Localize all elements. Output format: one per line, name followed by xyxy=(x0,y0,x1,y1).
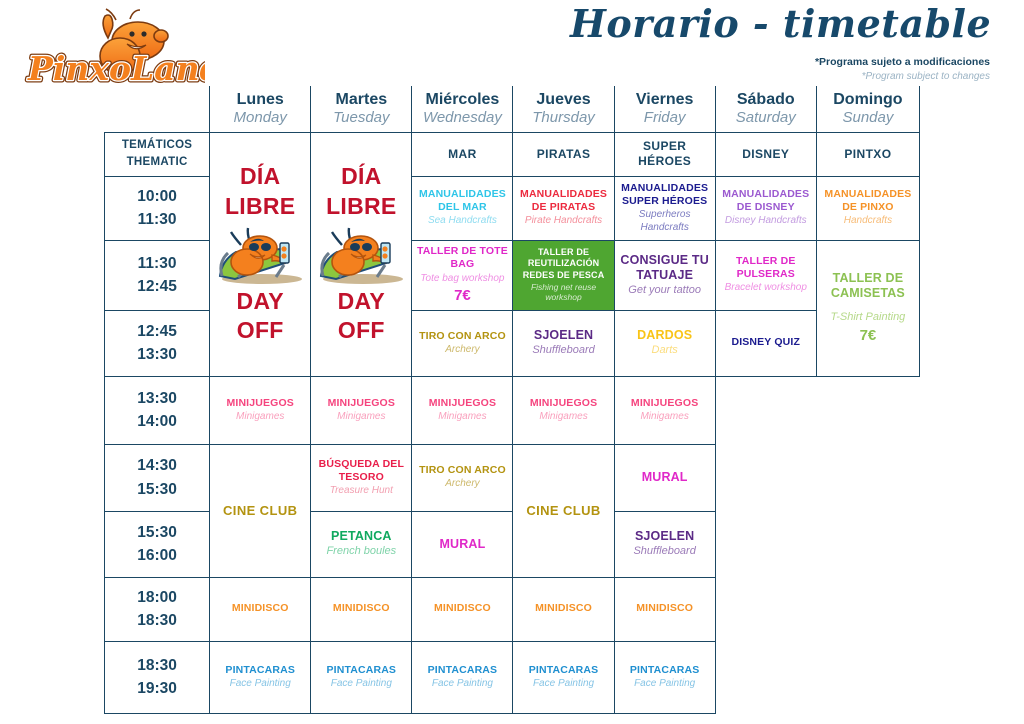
activity-en: Sea Handcrafts xyxy=(415,215,509,228)
timetable: Lunes Monday Martes Tuesday Miércoles We… xyxy=(104,86,920,714)
time-from: 13:30 xyxy=(106,387,208,410)
activity: PINTACARAS Face Painting xyxy=(514,663,612,692)
thematic-label-es: TEMÁTICOS xyxy=(106,137,208,154)
activity-es: MINIDISCO xyxy=(516,602,610,615)
thematic-thursday: PIRATAS xyxy=(513,132,614,176)
page-title: Horario - timetable xyxy=(570,4,990,44)
time-from: 11:30 xyxy=(106,252,208,275)
activity-cell[interactable]: MINIJUEGOS Minigames xyxy=(412,376,513,444)
activity-cell[interactable]: MINIJUEGOS Minigames xyxy=(513,376,614,444)
column-header-thursday: Jueves Thursday xyxy=(513,86,614,132)
time-to: 18:30 xyxy=(106,609,208,632)
activity: MANUALIDADES DEL MAR Sea Handcrafts xyxy=(413,187,511,229)
activity-es: TALLER DE PULSERAS xyxy=(719,255,813,281)
header-corner xyxy=(105,86,210,132)
activity-en: Get your tattoo xyxy=(618,284,712,298)
activity: MINIDISCO xyxy=(211,601,309,616)
activity-en: Minigames xyxy=(516,411,610,424)
activity: TALLER DE TOTE BAG Tote bag workshop 7€ xyxy=(413,244,511,305)
theme-label: DISNEY xyxy=(717,147,815,162)
pinxoland-mascot-logo-icon: PinxoLand PinxoLand PinxoLand xyxy=(20,8,205,93)
activity: TALLER DE CAMISETAS T-Shirt Painting 7€ xyxy=(818,270,918,345)
activity-en: Archery xyxy=(415,344,509,357)
free-day-line1: DÍA xyxy=(312,162,410,191)
activity-cell[interactable]: TIRO CON ARCO Archery xyxy=(412,444,513,511)
time-from: 14:30 xyxy=(106,454,208,477)
free-day-line4: OFF xyxy=(312,316,410,345)
thematic-sunday: PINTXO xyxy=(816,132,919,176)
activity: MINIJUEGOS Minigames xyxy=(413,396,511,425)
activity: PINTACARAS Face Painting xyxy=(413,663,511,692)
time-from: 10:00 xyxy=(106,185,208,208)
activity-cell-cineclub-wednesday[interactable]: CINE CLUB xyxy=(210,444,311,577)
time-from: 15:30 xyxy=(106,521,208,544)
activity-cell[interactable]: MINIDISCO xyxy=(513,577,614,641)
activity-cell[interactable]: MINIJUEGOS Minigames xyxy=(311,376,412,444)
activity-es: MANUALIDADES DE PIRATAS xyxy=(516,188,610,214)
activity: DISNEY QUIZ xyxy=(717,335,815,350)
activity-cell[interactable]: DARDOS Darts xyxy=(614,310,715,376)
time-to: 16:00 xyxy=(106,544,208,567)
activity-es: MURAL xyxy=(618,470,712,485)
activity-en: Darts xyxy=(618,344,712,358)
activity-en: Disney Handcrafts xyxy=(719,215,813,228)
activity: MINIJUEGOS Minigames xyxy=(211,396,309,425)
time-slot-4: 14:30 15:30 xyxy=(105,444,210,511)
activity-en: Minigames xyxy=(314,411,408,424)
activity: DARDOS Darts xyxy=(616,327,714,359)
activity-es: PINTACARAS xyxy=(516,664,610,677)
table-row: 13:30 14:00 MINIJUEGOS Minigames MINIJUE… xyxy=(105,376,920,444)
activity-es: CONSIGUE TU TATUAJE xyxy=(618,253,712,283)
activity-en: Fishing net reuse workshop xyxy=(516,282,610,303)
day-label-en: Thursday xyxy=(514,109,612,126)
time-to: 13:30 xyxy=(106,343,208,366)
activity: TIRO CON ARCO Archery xyxy=(413,463,511,492)
time-slot-5: 15:30 16:00 xyxy=(105,511,210,577)
activity-cell[interactable]: MINIDISCO xyxy=(614,577,715,641)
activity: MINIDISCO xyxy=(514,601,612,616)
free-day-cell-monday: DÍA LIBRE DAY O xyxy=(210,132,311,376)
day-label-es: Sábado xyxy=(717,91,815,109)
activity: MINIJUEGOS Minigames xyxy=(312,396,410,425)
day-label-es: Jueves xyxy=(514,91,612,109)
svg-text:PinxoLand: PinxoLand xyxy=(27,49,205,88)
activity: PINTACARAS Face Painting xyxy=(211,663,309,692)
activity-en: Face Painting xyxy=(516,678,610,691)
activity-es: CINE CLUB xyxy=(211,503,309,518)
activity-es: MINIJUEGOS xyxy=(618,397,712,410)
activity-cell[interactable]: PINTACARAS Face Painting xyxy=(311,641,412,713)
activity-cell-highlighted[interactable]: TALLER DE REUTILIZACIÓN REDES DE PESCA F… xyxy=(513,240,614,310)
free-day-line4: OFF xyxy=(211,316,309,345)
time-from: 18:30 xyxy=(106,654,208,677)
activity: MINIDISCO xyxy=(616,601,714,616)
column-header-saturday: Sábado Saturday xyxy=(715,86,816,132)
column-header-tuesday: Martes Tuesday xyxy=(311,86,412,132)
activity: PETANCA French boules xyxy=(312,528,410,560)
table-row: 14:30 15:30 CINE CLUB BÚSQUEDA DEL TESOR… xyxy=(105,444,920,511)
time-to: 15:30 xyxy=(106,478,208,501)
activity: MINIJUEGOS Minigames xyxy=(514,396,612,425)
activity-cell[interactable]: CONSIGUE TU TATUAJE Get your tattoo xyxy=(614,240,715,310)
theme-label: SUPER HÉROES xyxy=(616,139,714,169)
activity-es: PINTACARAS xyxy=(415,664,509,677)
thematic-friday: SUPER HÉROES xyxy=(614,132,715,176)
day-label-es: Miércoles xyxy=(413,91,511,109)
activity: MINIDISCO xyxy=(312,601,410,616)
theme-label: MAR xyxy=(413,147,511,162)
free-day-line2: LIBRE xyxy=(211,192,309,221)
thematic-wednesday: MAR xyxy=(412,132,513,176)
activity-en: Minigames xyxy=(415,411,509,424)
free-day-cell-tuesday: DÍA LIBRE DAY O xyxy=(311,132,412,376)
time-slot-1: 11:30 12:45 xyxy=(105,240,210,310)
activity: PINTACARAS Face Painting xyxy=(616,663,714,692)
activity-cell[interactable]: MANUALIDADES SUPER HÉROES Superheros Han… xyxy=(614,176,715,240)
day-label-en: Tuesday xyxy=(312,109,410,126)
activity-es: MINIDISCO xyxy=(415,602,509,615)
activity-es: PINTACARAS xyxy=(618,664,712,677)
activity-es: TALLER DE CAMISETAS xyxy=(820,271,916,301)
day-label-en: Sunday xyxy=(818,109,918,126)
day-label-es: Domingo xyxy=(818,91,918,109)
activity-price: 7€ xyxy=(415,287,509,305)
activity-es: DARDOS xyxy=(618,328,712,343)
day-label-en: Friday xyxy=(616,109,714,126)
time-to: 19:30 xyxy=(106,677,208,700)
activity-es: MURAL xyxy=(415,537,509,552)
activity-es: SJOELEN xyxy=(516,328,610,343)
time-slot-3: 13:30 14:00 xyxy=(105,376,210,444)
activity: TALLER DE REUTILIZACIÓN REDES DE PESCA F… xyxy=(514,246,612,304)
activity-cell[interactable]: MANUALIDADES DEL MAR Sea Handcrafts xyxy=(412,176,513,240)
activity-cell[interactable]: DISNEY QUIZ xyxy=(715,310,816,376)
activity-en: Superheros Handcrafts xyxy=(618,209,712,234)
activity-cell[interactable]: MURAL xyxy=(614,444,715,511)
time-to: 14:00 xyxy=(106,410,208,433)
time-from: 18:00 xyxy=(106,586,208,609)
activity: MINIJUEGOS Minigames xyxy=(616,396,714,425)
activity-cell[interactable]: MANUALIDADES DE DISNEY Disney Handcrafts xyxy=(715,176,816,240)
activity-cell[interactable]: TALLER DE PULSERAS Bracelet workshop xyxy=(715,240,816,310)
mascot-sunbed-icon xyxy=(315,221,407,287)
activity-cell-camisetas[interactable]: TALLER DE CAMISETAS T-Shirt Painting 7€ xyxy=(816,240,919,376)
activity-cell[interactable]: PINTACARAS Face Painting xyxy=(412,641,513,713)
day-label-es: Martes xyxy=(312,91,410,109)
free-day-line3: DAY xyxy=(312,287,410,316)
activity-es: MANUALIDADES SUPER HÉROES xyxy=(618,182,712,208)
activity: CONSIGUE TU TATUAJE Get your tattoo xyxy=(616,252,714,299)
activity-cell[interactable]: MINIJUEGOS Minigames xyxy=(210,376,311,444)
activity-es: PINTACARAS xyxy=(213,664,307,677)
activity-en: Face Painting xyxy=(213,678,307,691)
activity-es: MINIDISCO xyxy=(314,602,408,615)
brand-logo: PinxoLand PinxoLand PinxoLand xyxy=(20,8,205,93)
table-row: 18:00 18:30 MINIDISCO MINIDISCO MINIDISC… xyxy=(105,577,920,641)
day-label-es: Viernes xyxy=(616,91,714,109)
activity-es: MINIJUEGOS xyxy=(415,397,509,410)
activity-cell[interactable]: MINIDISCO xyxy=(311,577,412,641)
activity-en: Face Painting xyxy=(314,678,408,691)
activity-es: BÚSQUEDA DEL TESORO xyxy=(314,458,408,484)
activity: MINIDISCO xyxy=(413,601,511,616)
activity-en: Handcrafts xyxy=(820,215,916,228)
activity-es: MINIJUEGOS xyxy=(213,397,307,410)
activity: MURAL xyxy=(616,469,714,486)
activity: BÚSQUEDA DEL TESORO Treasure Hunt xyxy=(312,457,410,499)
activity: SJOELEN Shuffleboard xyxy=(514,327,612,359)
activity-en: Treasure Hunt xyxy=(314,485,408,498)
activity-cell[interactable]: TIRO CON ARCO Archery xyxy=(412,310,513,376)
activity-cell[interactable]: MINIDISCO xyxy=(210,577,311,641)
activity-cell[interactable]: MANUALIDADES DE PIRATAS Pirate Handcraft… xyxy=(513,176,614,240)
activity-en: Shuffleboard xyxy=(516,344,610,358)
time-slot-2: 12:45 13:30 xyxy=(105,310,210,376)
column-header-wednesday: Miércoles Wednesday xyxy=(412,86,513,132)
activity: PINTACARAS Face Painting xyxy=(312,663,410,692)
activity-es: MANUALIDADES DE PINXO xyxy=(820,188,916,214)
activity-cell[interactable]: PETANCA French boules xyxy=(311,511,412,577)
activity-es: PETANCA xyxy=(314,529,408,544)
activity-en: Shuffleboard xyxy=(618,545,712,559)
table-row: 18:30 19:30 PINTACARAS Face Painting PIN… xyxy=(105,641,920,713)
free-day-line1: DÍA xyxy=(211,162,309,191)
activity-es: PINTACARAS xyxy=(314,664,408,677)
activity-cell[interactable]: SJOELEN Shuffleboard xyxy=(513,310,614,376)
activity-cell[interactable]: PINTACARAS Face Painting xyxy=(614,641,715,713)
time-from: 12:45 xyxy=(106,320,208,343)
activity: MANUALIDADES DE DISNEY Disney Handcrafts xyxy=(717,187,815,229)
activity-cell[interactable]: MINIJUEGOS Minigames xyxy=(614,376,715,444)
activity-en: Minigames xyxy=(618,411,712,424)
activity: MANUALIDADES DE PIRATAS Pirate Handcraft… xyxy=(514,187,612,229)
theme-label: PINTXO xyxy=(818,147,918,162)
activity-es: MINIDISCO xyxy=(213,602,307,615)
activity-cell[interactable]: PINTACARAS Face Painting xyxy=(210,641,311,713)
activity-es: DISNEY QUIZ xyxy=(719,336,813,349)
title-block: Horario - timetable *Programa sujeto a m… xyxy=(570,4,990,83)
free-day-line3: DAY xyxy=(211,287,309,316)
theme-label: PIRATAS xyxy=(514,147,612,162)
table-header-row: Lunes Monday Martes Tuesday Miércoles We… xyxy=(105,86,920,132)
activity-cell[interactable]: TALLER DE TOTE BAG Tote bag workshop 7€ xyxy=(412,240,513,310)
timetable-grid: Lunes Monday Martes Tuesday Miércoles We… xyxy=(104,86,920,724)
column-header-monday: Lunes Monday xyxy=(210,86,311,132)
activity-en: T-Shirt Painting xyxy=(820,311,916,325)
day-label-en: Saturday xyxy=(717,109,815,126)
time-to: 11:30 xyxy=(106,208,208,231)
activity-en: French boules xyxy=(314,545,408,559)
activity-es: TIRO CON ARCO xyxy=(415,330,509,343)
time-to: 12:45 xyxy=(106,275,208,298)
activity-en: Face Painting xyxy=(415,678,509,691)
activity-es: MANUALIDADES DEL MAR xyxy=(415,188,509,214)
activity-es: CINE CLUB xyxy=(514,503,612,518)
thematic-saturday: DISNEY xyxy=(715,132,816,176)
activity-es: MINIJUEGOS xyxy=(314,397,408,410)
activity-en: Bracelet workshop xyxy=(719,282,813,295)
activity: MANUALIDADES SUPER HÉROES Superheros Han… xyxy=(616,181,714,235)
activity-cell[interactable]: MINIDISCO xyxy=(412,577,513,641)
column-header-sunday: Domingo Sunday xyxy=(816,86,919,132)
thematic-row-label: TEMÁTICOS THEMATIC xyxy=(105,132,210,176)
activity: MANUALIDADES DE PINXO Handcrafts xyxy=(818,187,918,229)
activity-es: SJOELEN xyxy=(618,529,712,544)
thematic-row: TEMÁTICOS THEMATIC DÍA LIBRE xyxy=(105,132,920,176)
activity-en: Face Painting xyxy=(618,678,712,691)
free-day-line2: LIBRE xyxy=(312,192,410,221)
day-label-en: Wednesday xyxy=(413,109,511,126)
mascot-sunbed-icon xyxy=(214,221,306,287)
disclaimer-es: *Programa sujeto a modificaciones xyxy=(570,56,990,70)
activity-price: 7€ xyxy=(820,327,916,345)
activity-cell[interactable]: MURAL xyxy=(412,511,513,577)
activity-cell-cineclub-saturday[interactable]: CINE CLUB xyxy=(513,444,614,577)
activity-cell[interactable]: BÚSQUEDA DEL TESORO Treasure Hunt xyxy=(311,444,412,511)
activity-cell[interactable]: SJOELEN Shuffleboard xyxy=(614,511,715,577)
activity-es: TALLER DE REUTILIZACIÓN REDES DE PESCA xyxy=(516,247,610,281)
activity: SJOELEN Shuffleboard xyxy=(616,528,714,560)
activity-cell[interactable]: MANUALIDADES DE PINXO Handcrafts xyxy=(816,176,919,240)
activity-es: MANUALIDADES DE DISNEY xyxy=(719,188,813,214)
day-label-es: Lunes xyxy=(211,91,309,109)
day-label-en: Monday xyxy=(211,109,309,126)
thematic-label-en: THEMATIC xyxy=(106,154,208,171)
time-slot-7: 18:30 19:30 xyxy=(105,641,210,713)
activity-en: Minigames xyxy=(213,411,307,424)
activity-es: MINIJUEGOS xyxy=(516,397,610,410)
activity-es: TALLER DE TOTE BAG xyxy=(415,245,509,271)
activity-en: Pirate Handcrafts xyxy=(516,215,610,228)
activity: MURAL xyxy=(413,536,511,553)
activity-en: Tote bag workshop xyxy=(415,273,509,286)
activity-es: MINIDISCO xyxy=(618,602,712,615)
time-slot-0: 10:00 11:30 xyxy=(105,176,210,240)
activity: TALLER DE PULSERAS Bracelet workshop xyxy=(717,254,815,296)
activity: TIRO CON ARCO Archery xyxy=(413,329,511,358)
activity-cell[interactable]: PINTACARAS Face Painting xyxy=(513,641,614,713)
time-slot-6: 18:00 18:30 xyxy=(105,577,210,641)
column-header-friday: Viernes Friday xyxy=(614,86,715,132)
activity-es: TIRO CON ARCO xyxy=(415,464,509,477)
disclaimer-en: *Program subject to changes xyxy=(570,70,990,83)
activity-en: Archery xyxy=(415,478,509,491)
